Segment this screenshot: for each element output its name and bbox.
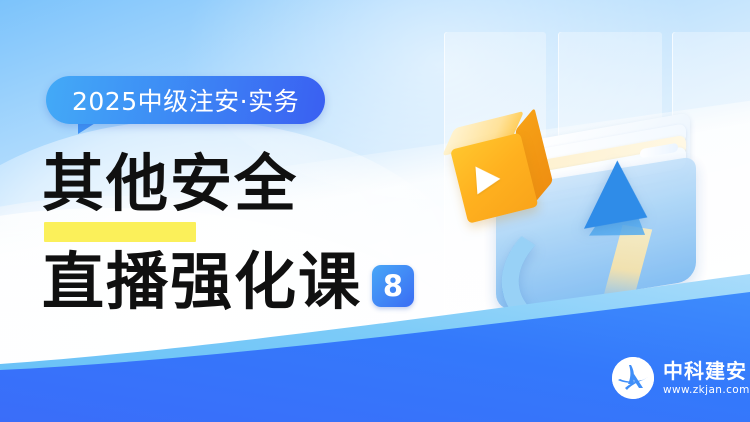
title-highlight-bar — [44, 222, 196, 242]
course-banner: 2025中级注安·实务 其他安全 直播强化课 8 中科建安 www.zkjan.… — [0, 0, 750, 422]
page-title-line2: 直播强化课 — [42, 250, 362, 314]
page-title-line2-row: 直播强化课 8 — [42, 250, 414, 314]
brand-logo[interactable]: 中科建安 www.zkjan.com — [612, 357, 750, 399]
brand-url: www.zkjan.com — [663, 384, 750, 396]
brand-name: 中科建安 — [663, 360, 750, 382]
episode-badge: 8 — [372, 265, 414, 307]
compass-arrow-icon — [612, 357, 654, 399]
episode-number: 8 — [383, 269, 403, 303]
brand-text: 中科建安 www.zkjan.com — [663, 360, 750, 396]
course-tag-pill: 2025中级注安·实务 — [46, 76, 325, 124]
play-triangle-icon — [475, 165, 501, 195]
course-tag-label: 2025中级注安·实务 — [72, 82, 299, 118]
page-title-line1: 其他安全 — [42, 152, 298, 216]
